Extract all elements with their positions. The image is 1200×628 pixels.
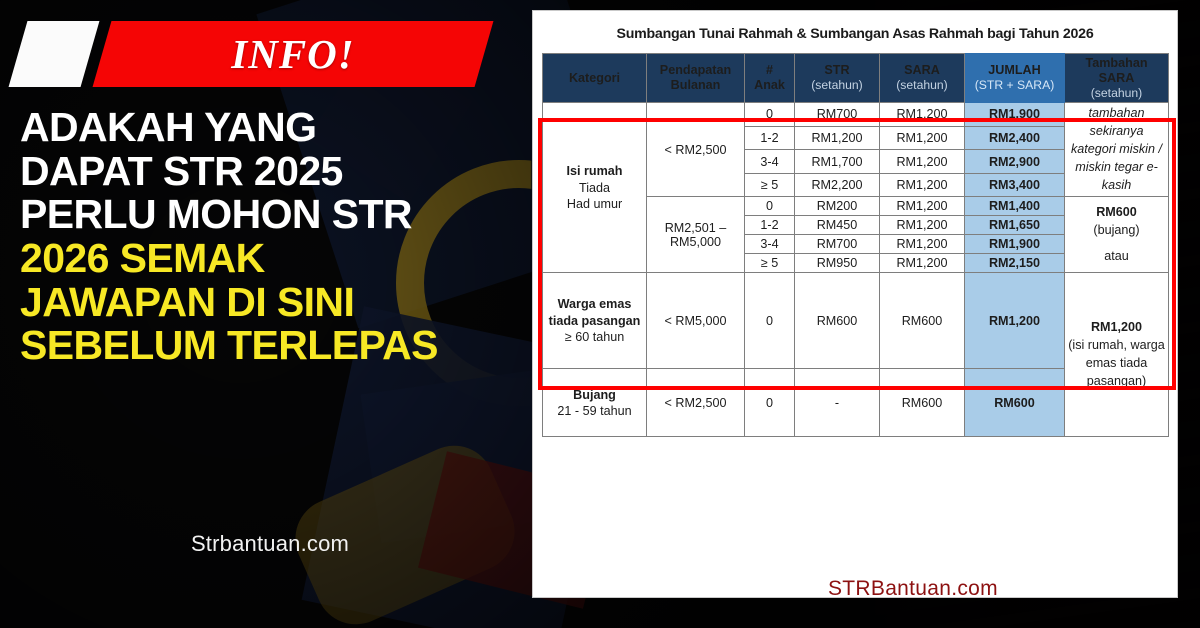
headline-line-6: SEBELUM TERLEPAS [20,324,520,368]
cell-income-band-4: < RM2,500 [647,369,745,437]
tambahan-spacer [1067,239,1166,248]
col-header-pendapatan: Pendapatan Bulanan [647,54,745,103]
cell-income-band-3: < RM5,000 [647,273,745,369]
col-header-tambahan-label: Tambahan [1085,56,1147,70]
cell-str: RM2,200 [795,173,880,197]
cell-tambahan-bujang: RM600 (bujang) atau [1065,197,1169,273]
poster-root: INFO! ADAKAH YANG DAPAT STR 2025 PERLU M… [0,0,1200,628]
headline-block: ADAKAH YANG DAPAT STR 2025 PERLU MOHON S… [20,106,520,368]
cell-tambahan-warga: RM1,200 (isi rumah, warga emas tiada pas… [1065,273,1169,437]
col-header-pendapatan-label: Pendapatan [660,63,731,77]
kategori-warga-emas-name: Warga emas [558,297,632,311]
cell-str: - [795,369,880,437]
cell-tambahan-note: tambahan sekiranya kategori miskin / mis… [1065,103,1169,197]
kategori-bujang-line2: 21 - 59 tahun [545,403,644,419]
col-header-tambahan-sub: (setahun) [1067,86,1166,100]
cell-str: RM1,200 [795,126,880,150]
cell-jumlah: RM3,400 [965,173,1065,197]
cell-str: RM700 [795,235,880,254]
cell-str: RM600 [795,273,880,369]
table-row: Warga emas tiada pasangan ≥ 60 tahun < R… [543,273,1169,369]
cell-jumlah: RM1,900 [965,235,1065,254]
rate-table: Kategori Pendapatan Bulanan # Anak STR (… [542,53,1169,437]
col-header-anak: # Anak [745,54,795,103]
info-banner-white-accent [9,21,100,87]
cell-str: RM950 [795,254,880,273]
tambahan-warga-label: (isi rumah, warga emas tiada pasangan) [1068,338,1165,388]
cell-anak: 0 [745,369,795,437]
cell-sara: RM1,200 [880,254,965,273]
headline-line-3: PERLU MOHON STR [20,193,520,237]
cell-kategori-bujang: Bujang 21 - 59 tahun [543,369,647,437]
cell-sara: RM1,200 [880,173,965,197]
tambahan-atau: atau [1104,249,1129,263]
col-header-hash-label: # [766,63,773,77]
income-band-2-line1: RM2,501 – [665,221,727,235]
cell-str: RM450 [795,216,880,235]
info-banner-label: INFO! [102,21,484,87]
info-banner: INFO! [18,21,488,87]
kategori-bujang-name: Bujang [573,388,616,402]
col-header-str-label: STR [824,63,849,77]
table-header-row: Kategori Pendapatan Bulanan # Anak STR (… [543,54,1169,103]
headline-line-5: JAWAPAN DI SINI [20,281,520,325]
cell-jumlah: RM2,400 [965,126,1065,150]
col-header-bulanan-label: Bulanan [671,78,721,92]
col-header-str: STR (setahun) [795,54,880,103]
table-row: Isi rumah Tiada Had umur < RM2,500 0 RM7… [543,103,1169,127]
tambahan-note-text: tambahan sekiranya kategori miskin / mis… [1071,106,1162,192]
site-credit: Strbantuan.com [20,531,520,557]
rate-table-card: Sumbangan Tunai Rahmah & Sumbangan Asas … [532,10,1178,598]
cell-jumlah: RM600 [965,369,1065,437]
col-header-sara-label: SARA [904,63,940,77]
cell-kategori-isi-rumah: Isi rumah Tiada Had umur [543,103,647,273]
headline-line-1: ADAKAH YANG [20,106,520,150]
cell-str: RM200 [795,197,880,216]
tambahan-warga-amount: RM1,200 [1067,319,1166,337]
cell-jumlah: RM1,200 [965,273,1065,369]
cell-str: RM1,700 [795,150,880,174]
cell-anak: ≥ 5 [745,173,795,197]
col-header-sara-sub: (setahun) [882,78,962,92]
cell-sara: RM600 [880,369,965,437]
cell-anak: 0 [745,197,795,216]
cell-sara: RM1,200 [880,216,965,235]
cell-anak: 3-4 [745,235,795,254]
kategori-isi-rumah-line2: Tiada [545,180,644,196]
col-header-str-sub: (setahun) [797,78,877,92]
table-header: Kategori Pendapatan Bulanan # Anak STR (… [543,54,1169,103]
cell-jumlah: RM2,900 [965,150,1065,174]
headline-line-4: 2026 SEMAK [20,237,520,281]
kategori-isi-rumah-name: Isi rumah [567,164,623,178]
tambahan-bujang-label: (bujang) [1093,223,1139,237]
cell-sara: RM1,200 [880,103,965,127]
cell-anak: 0 [745,103,795,127]
col-header-jumlah: JUMLAH (STR + SARA) [965,54,1065,103]
kategori-warga-emas-line4: ≥ 60 tahun [545,329,644,345]
col-header-jumlah-sub: (STR + SARA) [967,78,1062,92]
table-title: Sumbangan Tunai Rahmah & Sumbangan Asas … [533,11,1177,53]
cell-jumlah: RM1,650 [965,216,1065,235]
cell-str: RM700 [795,103,880,127]
table-body: Isi rumah Tiada Had umur < RM2,500 0 RM7… [543,103,1169,437]
col-header-tambahan-sara-label: SARA [1099,71,1135,85]
cell-jumlah: RM1,400 [965,197,1065,216]
cell-sara: RM1,200 [880,235,965,254]
cell-jumlah: RM2,150 [965,254,1065,273]
cell-anak: 1-2 [745,216,795,235]
col-header-tambahan-sara: Tambahan SARA (setahun) [1065,54,1169,103]
cell-income-band-1: < RM2,500 [647,103,745,197]
kategori-warga-emas-line3: pasangan [582,314,641,328]
tambahan-bujang-amount: RM600 [1067,204,1166,222]
cell-anak: 0 [745,273,795,369]
cell-anak: ≥ 5 [745,254,795,273]
kategori-isi-rumah-line3: Had umur [545,196,644,212]
cell-sara: RM1,200 [880,150,965,174]
col-header-jumlah-label: JUMLAH [988,63,1040,77]
col-header-sara: SARA (setahun) [880,54,965,103]
cell-sara: RM600 [880,273,965,369]
cell-income-band-2: RM2,501 – RM5,000 [647,197,745,273]
col-header-anak-label: Anak [754,78,785,92]
cell-kategori-warga-emas: Warga emas tiada pasangan ≥ 60 tahun [543,273,647,369]
watermark-label: STRBantuan.com [828,577,998,601]
cell-anak: 1-2 [745,126,795,150]
headline-line-2: DAPAT STR 2025 [20,150,520,194]
col-header-kategori: Kategori [543,54,647,103]
cell-sara: RM1,200 [880,197,965,216]
cell-anak: 3-4 [745,150,795,174]
kategori-warga-emas-line2: tiada [549,314,578,328]
col-header-kategori-label: Kategori [569,71,620,85]
cell-sara: RM1,200 [880,126,965,150]
income-band-2-line2: RM5,000 [670,235,721,249]
cell-jumlah: RM1,900 [965,103,1065,127]
